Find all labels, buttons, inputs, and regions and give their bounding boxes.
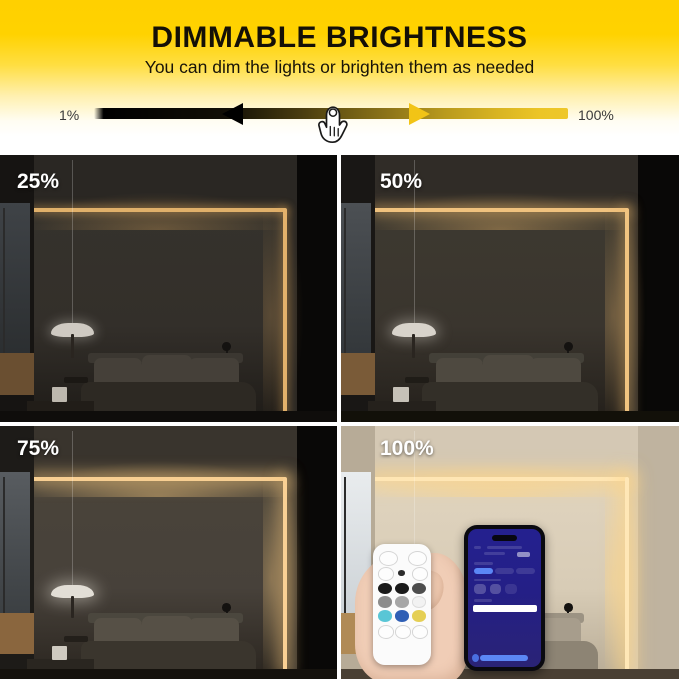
window-frame xyxy=(3,477,5,614)
remote-color-button[interactable] xyxy=(412,583,426,595)
led-strip-top xyxy=(30,208,286,212)
bedroom-scene xyxy=(0,155,337,422)
led-strip-top xyxy=(371,208,628,212)
window-frame xyxy=(3,208,5,352)
remote-dim-down-button[interactable] xyxy=(395,625,411,639)
grid-divider-vertical xyxy=(337,155,341,679)
section-label-mode xyxy=(474,562,493,564)
preset-swatch[interactable] xyxy=(490,584,502,594)
bedroom-scene xyxy=(0,426,337,679)
scene-tile-25[interactable]: 25% xyxy=(0,155,337,422)
device-badge xyxy=(517,552,530,558)
wall-sconce xyxy=(564,603,572,612)
light-switch xyxy=(64,377,88,384)
led-strip-right xyxy=(625,208,629,416)
brightness-slider[interactable]: 1% 100% xyxy=(0,98,679,136)
remote-off-button[interactable] xyxy=(379,551,398,566)
chevron-left-icon[interactable] xyxy=(378,567,394,581)
bedroom-scene xyxy=(341,426,679,679)
wall-sconce xyxy=(564,342,572,351)
apply-button[interactable] xyxy=(480,655,528,662)
remote-color-button[interactable] xyxy=(412,596,426,608)
preset-swatch[interactable] xyxy=(505,584,517,594)
led-strip-right xyxy=(625,477,629,674)
remote-color-button[interactable] xyxy=(395,596,409,608)
tab-timer[interactable] xyxy=(516,568,535,574)
power-icon[interactable] xyxy=(398,570,405,575)
tab-scene[interactable] xyxy=(474,568,493,574)
window-frame xyxy=(344,208,346,352)
app-title-text xyxy=(487,546,522,549)
led-strip-top xyxy=(30,477,286,481)
light-switch xyxy=(405,377,429,384)
slider-max-label: 100% xyxy=(578,107,614,123)
section-label-custom xyxy=(474,599,492,601)
floor xyxy=(341,411,679,422)
hand-pointer-icon xyxy=(313,104,353,148)
floor xyxy=(0,669,337,679)
pendant-cord xyxy=(72,160,73,326)
light-switch xyxy=(64,636,88,642)
led-remote-control[interactable] xyxy=(373,544,430,665)
floor xyxy=(0,411,337,422)
window-sill xyxy=(0,353,34,396)
section-label-brightness xyxy=(474,579,500,581)
window-sill xyxy=(0,613,34,653)
scene-label-75: 75% xyxy=(17,437,59,461)
led-strip-right xyxy=(283,208,287,416)
header-banner: DIMMABLE BRIGHTNESS You can dim the ligh… xyxy=(0,0,679,155)
tab-music[interactable] xyxy=(495,568,514,574)
remote-color-button[interactable] xyxy=(395,610,409,622)
remote-color-button[interactable] xyxy=(412,610,426,622)
led-strip-top xyxy=(371,477,628,481)
arrow-right-icon xyxy=(409,103,430,125)
window-sill xyxy=(341,353,375,396)
arrow-left-icon xyxy=(222,103,243,125)
pendant-lamp-stem xyxy=(412,334,415,358)
scene-label-25: 25% xyxy=(17,170,59,194)
page-subtitle: You can dim the lights or brighten them … xyxy=(0,57,679,78)
scene-label-50: 50% xyxy=(380,170,422,194)
remote-dim-up-button[interactable] xyxy=(378,625,394,639)
bedroom-scene xyxy=(341,155,679,422)
pendant-lamp-stem xyxy=(71,334,74,358)
wall-sconce xyxy=(222,342,230,351)
scene-tile-75[interactable]: 75% xyxy=(0,426,337,679)
preset-swatch[interactable] xyxy=(474,584,486,594)
page-title: DIMMABLE BRIGHTNESS xyxy=(0,21,679,55)
app-subtitle-text xyxy=(484,552,504,554)
cup xyxy=(393,387,408,402)
phone-notch xyxy=(492,535,517,542)
remote-color-button[interactable] xyxy=(378,583,392,595)
remote-color-button[interactable] xyxy=(395,583,409,595)
grid-divider-horizontal xyxy=(0,422,679,426)
chevron-right-icon[interactable] xyxy=(412,567,428,581)
product-infographic: DIMMABLE BRIGHTNESS You can dim the ligh… xyxy=(0,0,679,679)
back-icon[interactable] xyxy=(474,546,481,549)
remote-mode-button[interactable] xyxy=(412,625,428,639)
scene-tile-100[interactable]: 100% xyxy=(341,426,679,679)
window-frame xyxy=(344,477,346,614)
pendant-cord xyxy=(72,431,73,588)
wall-sconce xyxy=(222,603,230,612)
brightness-slider-track[interactable] xyxy=(473,605,537,612)
scene-label-100: 100% xyxy=(380,437,434,461)
led-strip-right xyxy=(283,477,287,674)
remote-color-button[interactable] xyxy=(378,610,392,622)
scene-tile-50[interactable]: 50% xyxy=(341,155,679,422)
smartphone[interactable] xyxy=(464,525,545,672)
phone-screen[interactable] xyxy=(468,529,541,667)
cup xyxy=(52,646,67,660)
scene-grid: 25% xyxy=(0,155,679,679)
slider-min-label: 1% xyxy=(59,107,79,123)
remote-color-button[interactable] xyxy=(378,596,392,608)
remote-on-button[interactable] xyxy=(408,551,427,566)
cup xyxy=(52,387,67,402)
pendant-lamp-stem xyxy=(71,596,74,619)
settings-fab[interactable] xyxy=(472,654,479,662)
